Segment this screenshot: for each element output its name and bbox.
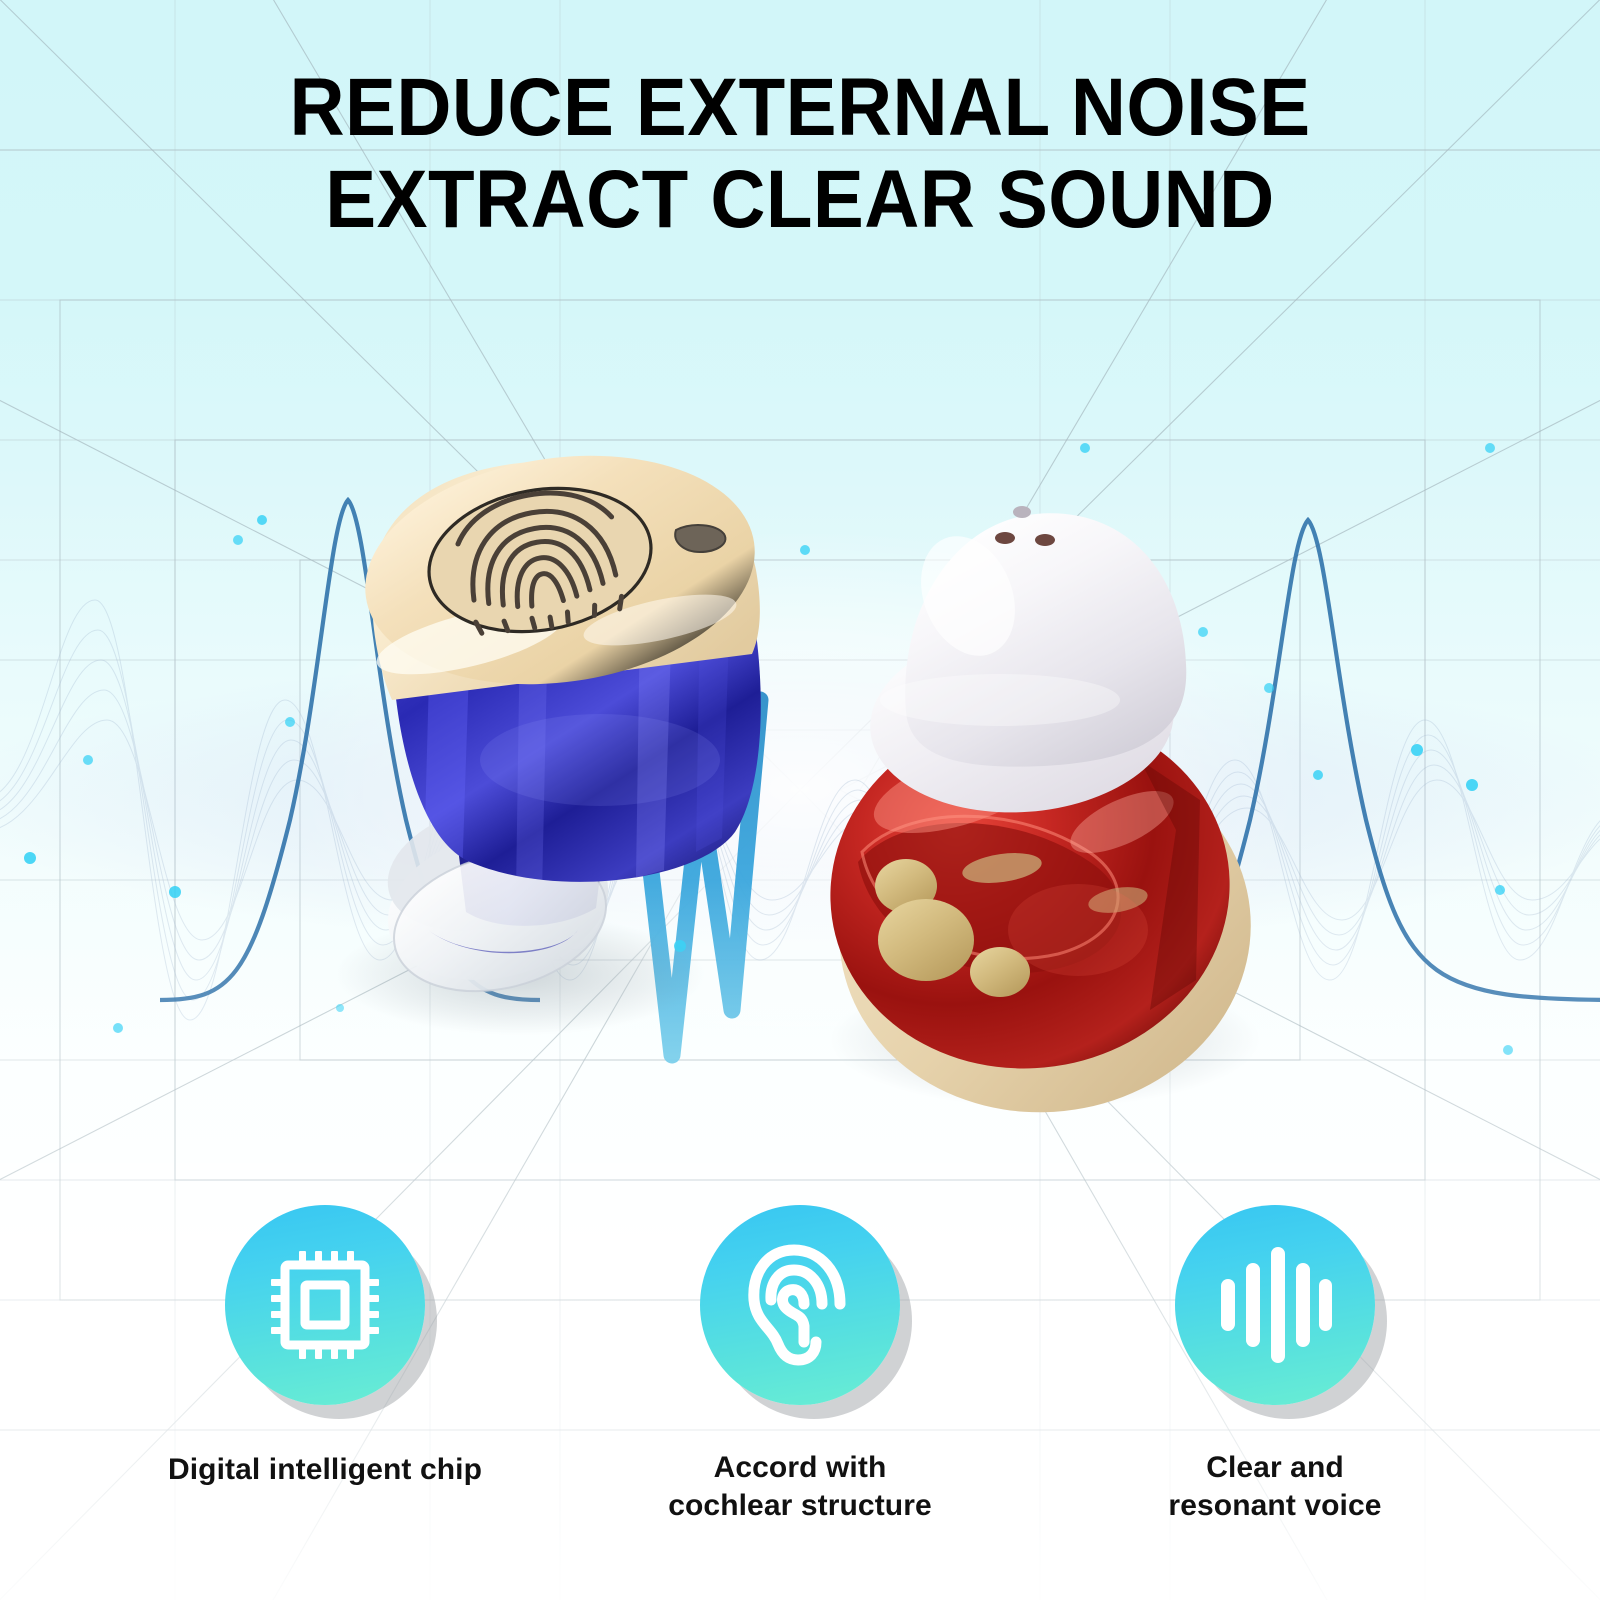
page-title: REDUCE EXTERNAL NOISE EXTRACT CLEAR SOUN… bbox=[56, 62, 1544, 246]
feature-item-sound[interactable]: Clear and resonant voice bbox=[1038, 1205, 1513, 1526]
feature-caption-chip: Digital intelligent chip bbox=[168, 1451, 482, 1489]
product-banner: REDUCE EXTERNAL NOISE EXTRACT CLEAR SOUN… bbox=[0, 0, 1600, 1600]
feature-list: Digital intelligent chip Accor bbox=[0, 1205, 1600, 1526]
chip-icon bbox=[269, 1249, 381, 1361]
headline-line-1: REDUCE EXTERNAL NOISE bbox=[289, 62, 1310, 153]
caption-line: Accord with bbox=[668, 1449, 932, 1487]
headline-line-2: EXTRACT CLEAR SOUND bbox=[56, 154, 1544, 246]
ear-icon bbox=[744, 1242, 856, 1368]
caption-line: resonant voice bbox=[1168, 1487, 1381, 1525]
ear-badge[interactable] bbox=[700, 1205, 900, 1405]
caption-line: cochlear structure bbox=[668, 1487, 932, 1525]
feature-caption-ear: Accord with cochlear structure bbox=[668, 1449, 932, 1526]
caption-line: Clear and bbox=[1168, 1449, 1381, 1487]
feature-item-chip[interactable]: Digital intelligent chip bbox=[88, 1205, 563, 1526]
feature-item-ear[interactable]: Accord with cochlear structure bbox=[563, 1205, 1038, 1526]
feature-caption-sound: Clear and resonant voice bbox=[1168, 1449, 1381, 1526]
caption-line: Digital intelligent chip bbox=[168, 1451, 482, 1489]
sound-wave-icon bbox=[1217, 1245, 1333, 1365]
chip-badge[interactable] bbox=[225, 1205, 425, 1405]
sound-wave-badge[interactable] bbox=[1175, 1205, 1375, 1405]
